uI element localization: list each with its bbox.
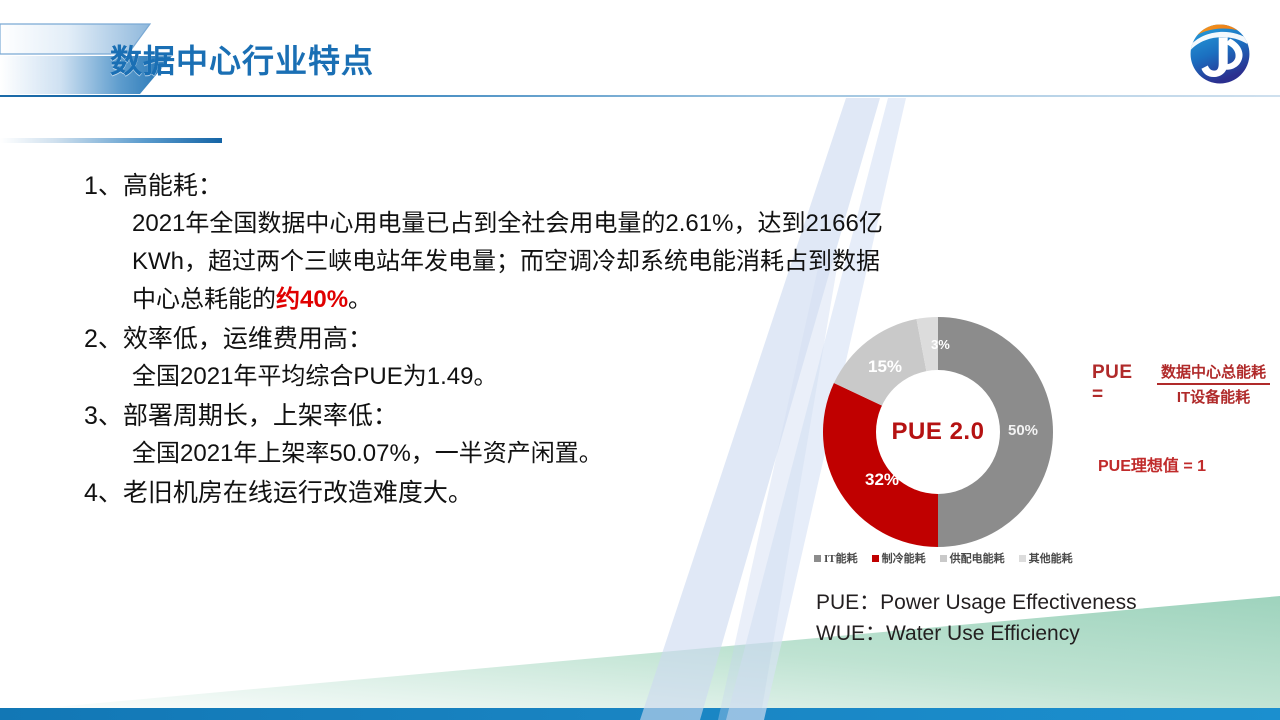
bullet-number-4: 4、 bbox=[84, 479, 123, 507]
legend-item-cooling: 制冷能耗 bbox=[872, 550, 926, 566]
bullet-1-detail: 2021年全国数据中心用电量已占到全社会用电量的2.61%，达到2166亿 KW… bbox=[84, 205, 784, 319]
pue-formula-denominator: IT设备能耗 bbox=[1173, 385, 1254, 408]
legend-swatch-power bbox=[940, 555, 947, 562]
legend-item-power: 供配电能耗 bbox=[940, 550, 1005, 566]
bullet-3-line-1: 全国2021年上架率50.07%，一半资产闲置。 bbox=[132, 435, 784, 473]
bullet-number-2: 2、 bbox=[84, 325, 123, 353]
legend-label-other: 其他能耗 bbox=[1029, 550, 1073, 566]
bullet-3-detail: 全国2021年上架率50.07%，一半资产闲置。 bbox=[84, 435, 784, 473]
definition-pue: PUE：Power Usage Effectiveness bbox=[816, 588, 1137, 619]
highlight-40-percent: 约40% bbox=[276, 286, 348, 313]
legend-swatch-other bbox=[1019, 555, 1026, 562]
bullet-number-3: 3、 bbox=[84, 402, 123, 430]
acronym-definitions: PUE：Power Usage Effectiveness WUE：Water … bbox=[816, 588, 1137, 649]
company-logo-icon bbox=[1188, 22, 1252, 86]
bullet-heading-4: 老旧机房在线运行改造难度大。 bbox=[123, 479, 473, 507]
header-divider-rule bbox=[0, 95, 1280, 97]
content-body: 1、高能耗： 2021年全国数据中心用电量已占到全社会用电量的2.61%，达到2… bbox=[84, 168, 784, 512]
legend-label-cooling: 制冷能耗 bbox=[882, 550, 926, 566]
accent-underline bbox=[0, 138, 222, 143]
definition-wue: WUE：Water Use Efficiency bbox=[816, 619, 1137, 650]
bullet-2-line-1: 全国2021年平均综合PUE为1.49。 bbox=[132, 358, 784, 396]
bullet-heading-3: 部署周期长，上架率低： bbox=[123, 402, 398, 430]
legend-swatch-cooling bbox=[872, 555, 879, 562]
pue-formula-lhs: PUE = bbox=[1092, 362, 1149, 406]
bullet-number-1: 1、 bbox=[84, 172, 123, 200]
legend-label-it: IT能耗 bbox=[824, 550, 858, 566]
pue-formula-fraction: 数据中心总能耗 IT设备能耗 bbox=[1157, 360, 1270, 408]
bullet-heading-2: 效率低，运维费用高： bbox=[123, 325, 373, 353]
legend-item-other: 其他能耗 bbox=[1019, 550, 1073, 566]
donut-legend: IT能耗 制冷能耗 供配电能耗 其他能耗 bbox=[814, 550, 1073, 566]
page-title: 数据中心行业特点 bbox=[110, 36, 374, 82]
bullet-1-line-3-text: 中心总耗能的 bbox=[132, 286, 276, 313]
bullet-item-2: 2、效率低，运维费用高： bbox=[84, 321, 784, 358]
legend-label-power: 供配电能耗 bbox=[950, 550, 1005, 566]
bullet-item-4: 4、老旧机房在线运行改造难度大。 bbox=[84, 475, 784, 512]
legend-item-it: IT能耗 bbox=[814, 550, 858, 566]
legend-swatch-it bbox=[814, 555, 821, 562]
donut-value-label-cooling: 32% bbox=[865, 470, 899, 490]
pue-formula-numerator: 数据中心总能耗 bbox=[1157, 360, 1270, 383]
bullet-item-3: 3、部署周期长，上架率低： bbox=[84, 398, 784, 435]
bullet-heading-1: 高能耗： bbox=[123, 172, 223, 200]
pue-ideal-value: PUE理想值 = 1 bbox=[1098, 452, 1206, 476]
bullet-1-line-3: 中心总耗能的约40%。 bbox=[132, 281, 784, 319]
bullet-2-detail: 全国2021年平均综合PUE为1.49。 bbox=[84, 358, 784, 396]
pue-formula-row: PUE = 数据中心总能耗 IT设备能耗 bbox=[1092, 360, 1270, 408]
donut-value-label-power: 15% bbox=[868, 357, 902, 377]
bullet-1-line-1: 2021年全国数据中心用电量已占到全社会用电量的2.61%，达到2166亿 bbox=[132, 205, 784, 243]
pue-formula: PUE = 数据中心总能耗 IT设备能耗 bbox=[1092, 360, 1270, 408]
bullet-item-1: 1、高能耗： bbox=[84, 168, 784, 205]
bullet-1-line-3-tail: 。 bbox=[348, 286, 372, 313]
donut-value-label-other: 3% bbox=[931, 337, 950, 352]
bullet-1-line-2: KWh，超过两个三峡电站年发电量；而空调冷却系统电能消耗占到数据 bbox=[132, 243, 784, 281]
donut-value-label-it: 50% bbox=[1008, 422, 1038, 439]
slide-canvas: 数据中心行业特点 1、高能耗： bbox=[0, 0, 1280, 720]
